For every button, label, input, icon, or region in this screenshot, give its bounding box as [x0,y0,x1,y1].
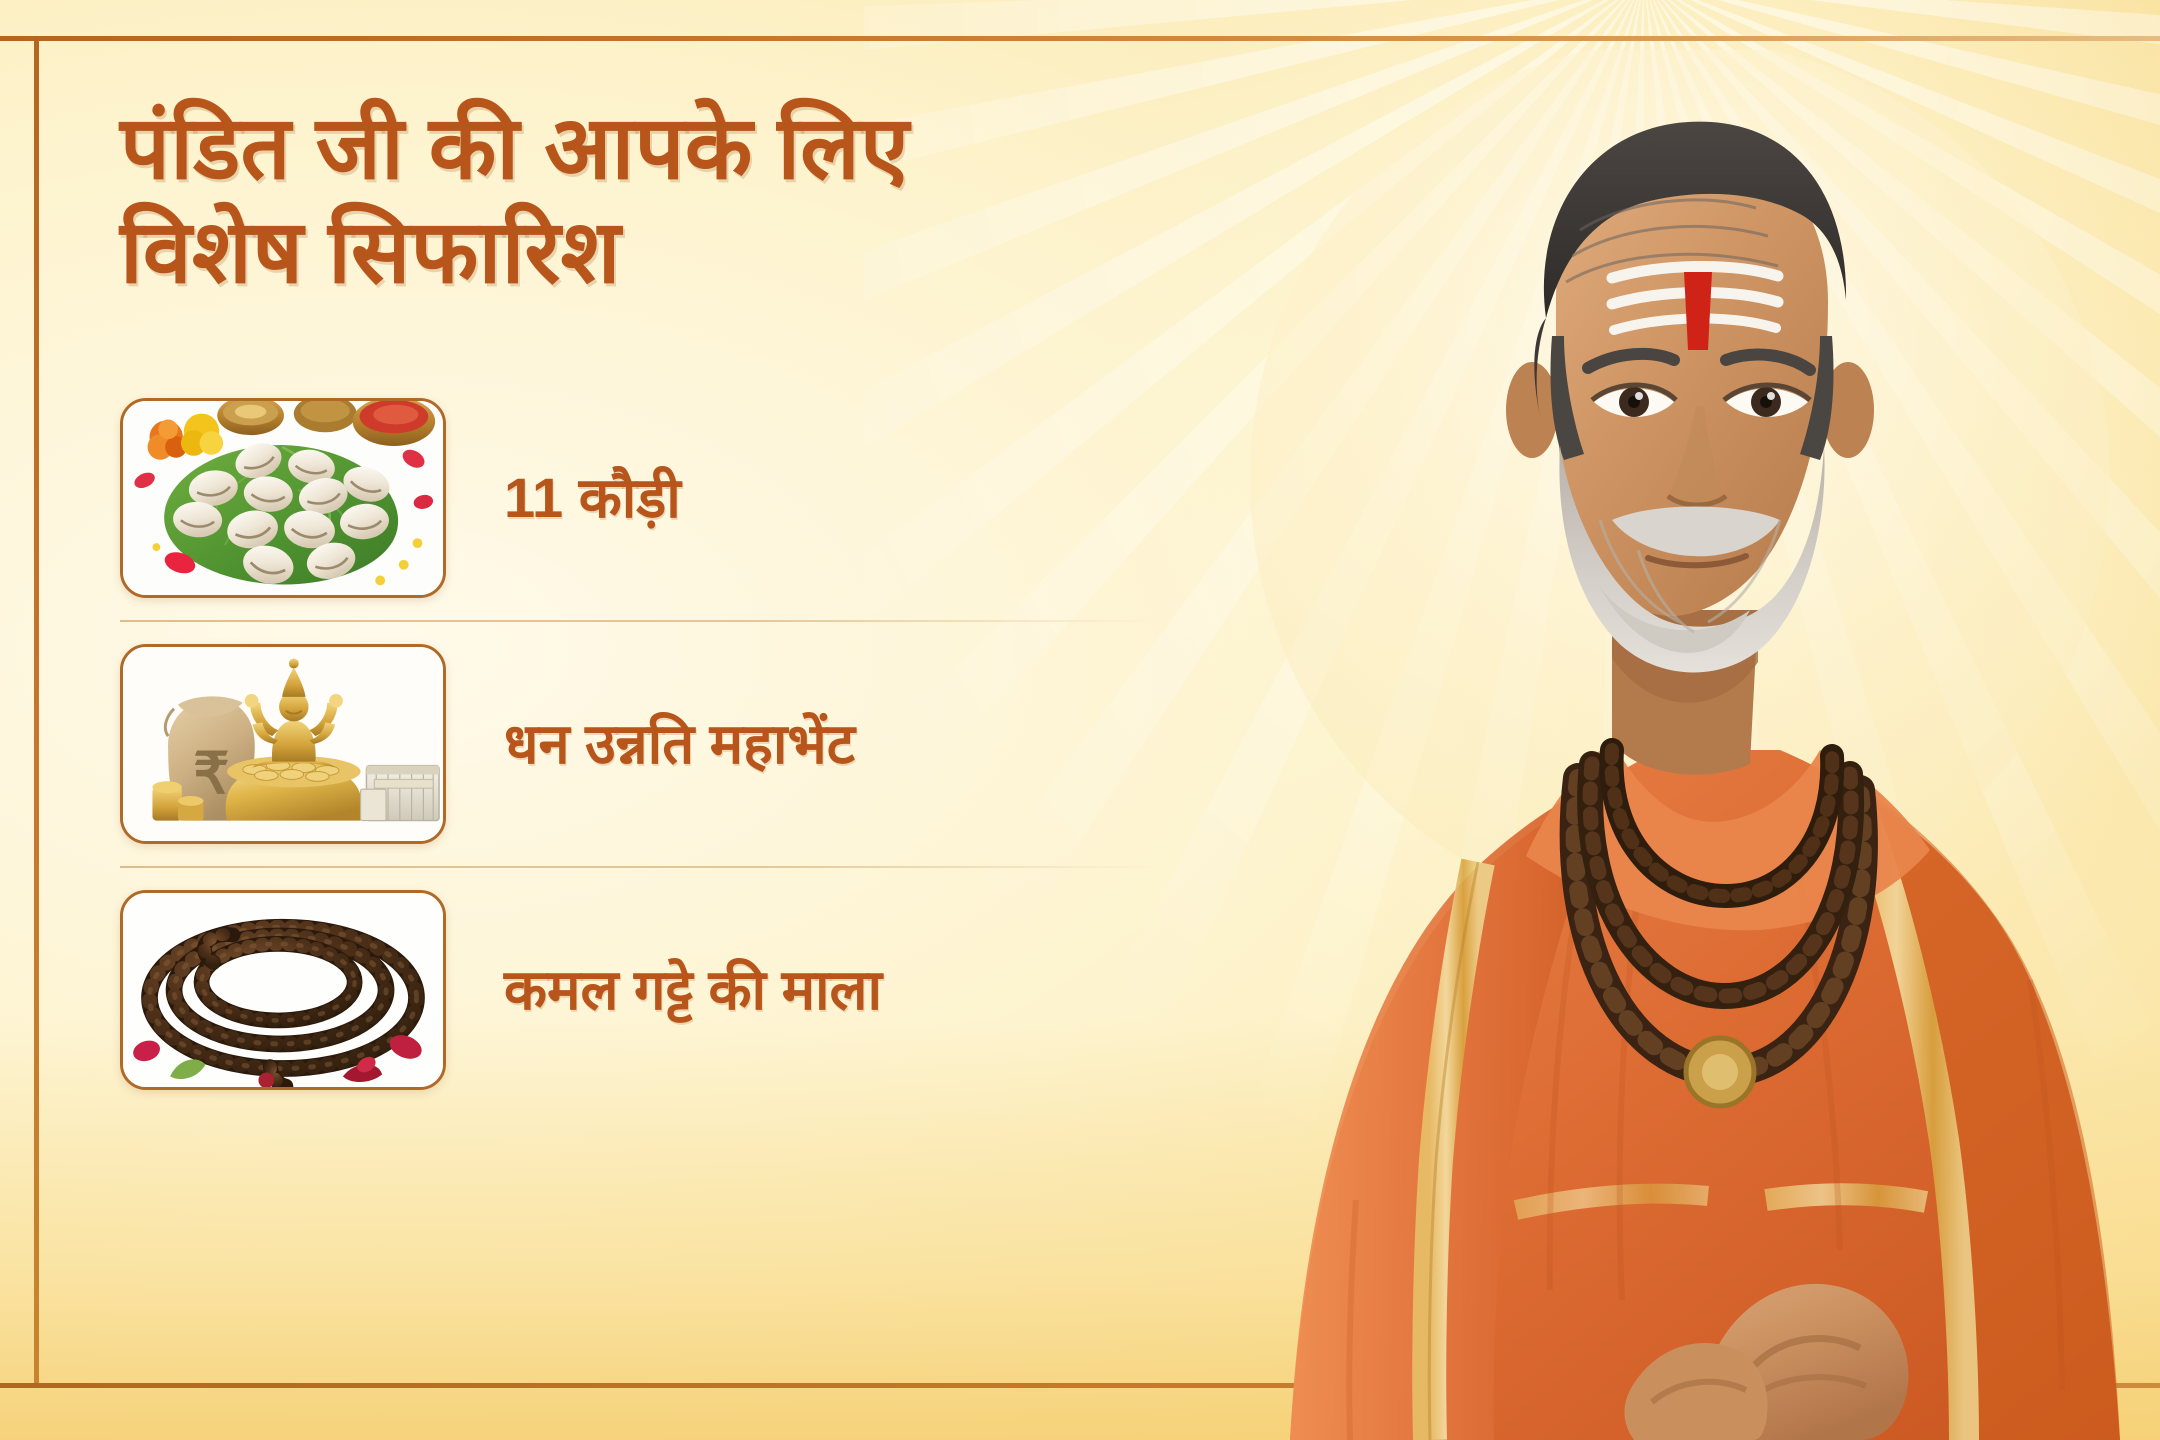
headline-line-2: विशेष सिफारिश [120,200,1230,304]
cowrie-shells-on-betel-leaf-thumbnail [120,398,446,598]
list-item-label: 11 कौड़ी [504,463,681,533]
top-border-rule [0,36,2160,41]
list-item-label: धन उन्नति महाभेंट [504,709,855,779]
list-item[interactable]: कमल गट्टे की माला [120,868,1155,1112]
lotus-seed-mala-thumbnail [120,890,446,1090]
bottom-border-rule [0,1383,2160,1388]
list-item[interactable]: ₹ [120,622,1155,866]
page-title: पंडित जी की आपके लिए विशेष सिफारिश [120,96,1230,304]
left-border-rule [34,36,39,1388]
list-item-label: कमल गट्टे की माला [504,955,882,1025]
svg-text:₹: ₹ [193,742,229,806]
headline-line-1: पंडित जी की आपके लिए [120,96,1230,200]
list-item[interactable]: 11 कौड़ी [120,376,1155,620]
lakshmi-idol-wealth-thumbnail: ₹ [120,644,446,844]
content-column: पंडित जी की आपके लिए विशेष सिफारिश [120,96,1230,1112]
recommendation-banner: पंडित जी की आपके लिए विशेष सिफारिश [0,0,2160,1440]
recommendation-list: 11 कौड़ी [120,376,1155,1112]
